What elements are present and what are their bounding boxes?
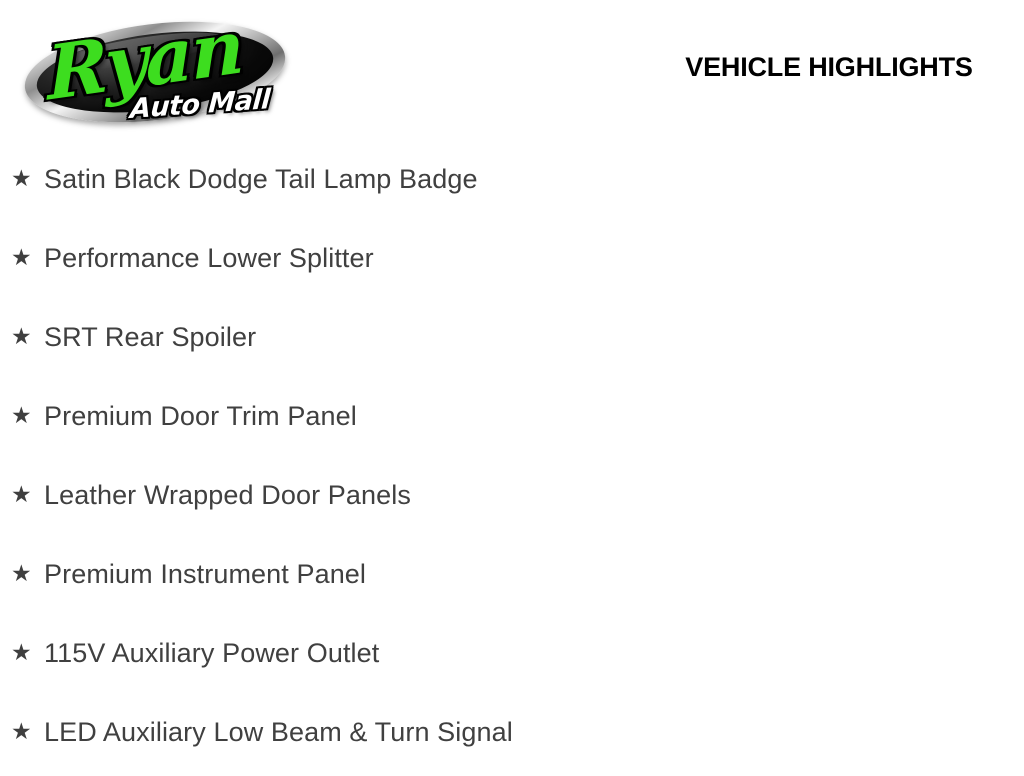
page-title: VEHICLE HIGHLIGHTS (664, 50, 994, 84)
highlight-label: Leather Wrapped Door Panels (44, 480, 411, 510)
highlight-label: Satin Black Dodge Tail Lamp Badge (44, 164, 478, 194)
star-bullet-icon: ★ (11, 298, 33, 377)
star-bullet-icon: ★ (11, 456, 33, 535)
list-item: ★SRT Rear Spoiler (0, 298, 1024, 377)
list-item: ★Premium Door Trim Panel (0, 377, 1024, 456)
highlight-label: Premium Instrument Panel (44, 559, 366, 589)
star-bullet-icon: ★ (11, 535, 33, 614)
page-header: Ryan Auto Mall VEHICLE HIGHLIGHTS (0, 0, 1024, 140)
list-item: ★115V Auxiliary Power Outlet (0, 614, 1024, 693)
star-bullet-icon: ★ (11, 219, 33, 298)
star-bullet-icon: ★ (11, 614, 33, 693)
highlight-label: LED Auxiliary Low Beam & Turn Signal (44, 717, 513, 747)
highlight-label: Premium Door Trim Panel (44, 401, 357, 431)
list-item: ★Satin Black Dodge Tail Lamp Badge (0, 140, 1024, 219)
list-item: ★Premium Instrument Panel (0, 535, 1024, 614)
list-item: ★LED Auxiliary Low Beam & Turn Signal (0, 693, 1024, 772)
highlight-label: Performance Lower Splitter (44, 243, 374, 273)
list-item: ★Performance Lower Splitter (0, 219, 1024, 298)
highlight-label: 115V Auxiliary Power Outlet (44, 638, 379, 668)
star-bullet-icon: ★ (11, 693, 33, 772)
list-item: ★Leather Wrapped Door Panels (0, 456, 1024, 535)
star-bullet-icon: ★ (11, 140, 33, 219)
highlight-label: SRT Rear Spoiler (44, 322, 256, 352)
dealer-logo: Ryan Auto Mall (18, 8, 294, 124)
star-bullet-icon: ★ (11, 377, 33, 456)
vehicle-highlights-list: ★Satin Black Dodge Tail Lamp Badge★Perfo… (0, 140, 1024, 772)
